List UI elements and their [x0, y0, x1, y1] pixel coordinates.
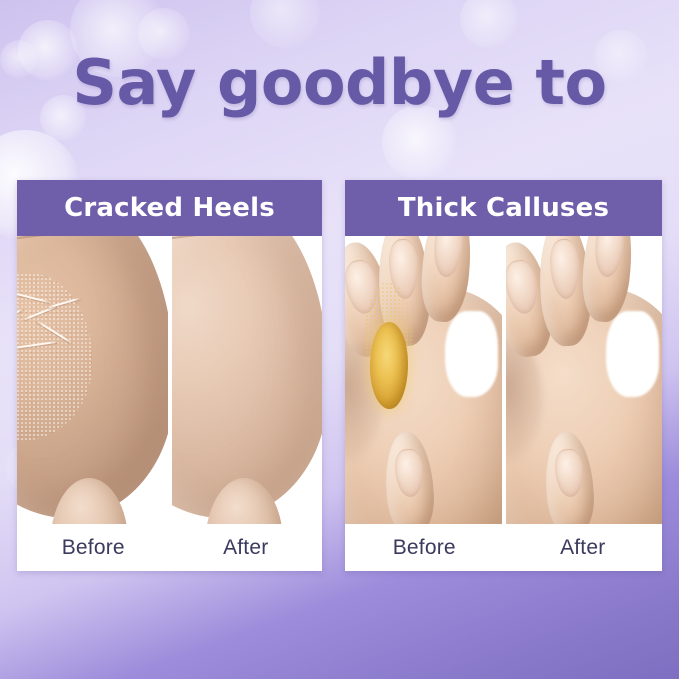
toenail-shape: [554, 448, 585, 498]
caption-before: Before: [345, 536, 504, 560]
caption-after: After: [170, 536, 323, 560]
ankle-wrinkles: [168, 236, 323, 331]
toenail-shape: [549, 238, 581, 299]
heel-cracked-illustration: [17, 236, 168, 524]
before-after-photo-pair: [17, 236, 322, 524]
crack-lines: [17, 236, 168, 518]
promo-poster: Say goodbye to Cracked Heels: [0, 0, 679, 679]
photo-callus-after: [502, 236, 663, 524]
heel-shape: [168, 236, 323, 518]
photo-callus-before: [345, 236, 502, 524]
bokeh-circle-icon: [460, 0, 518, 48]
bokeh-circle-icon: [250, 0, 320, 48]
caption-before: Before: [17, 536, 170, 560]
card-title-thick-calluses: Thick Calluses: [345, 180, 662, 236]
caption-row: Before After: [345, 524, 662, 571]
toenail-shape: [593, 236, 625, 279]
toenail-shape: [432, 236, 464, 279]
card-cracked-heels: Cracked Heels: [17, 180, 322, 571]
background-gap: [606, 311, 659, 397]
photo-heel-before: [17, 236, 168, 524]
toenail-shape: [506, 258, 541, 316]
card-thick-calluses: Thick Calluses: [345, 180, 662, 571]
toes-clear-illustration: [506, 236, 663, 524]
heel-shape: [17, 236, 168, 518]
photo-heel-after: [168, 236, 323, 524]
caption-row: Before After: [17, 524, 322, 571]
card-title-cracked-heels: Cracked Heels: [17, 180, 322, 236]
callus-spot: [370, 322, 408, 408]
page-title: Say goodbye to: [0, 52, 679, 114]
toenail-shape: [394, 448, 425, 498]
before-after-photo-pair: [345, 236, 662, 524]
background-gap: [445, 311, 498, 397]
heel-smooth-illustration: [172, 236, 323, 524]
toes-callus-illustration: [345, 236, 502, 524]
caption-after: After: [504, 536, 663, 560]
